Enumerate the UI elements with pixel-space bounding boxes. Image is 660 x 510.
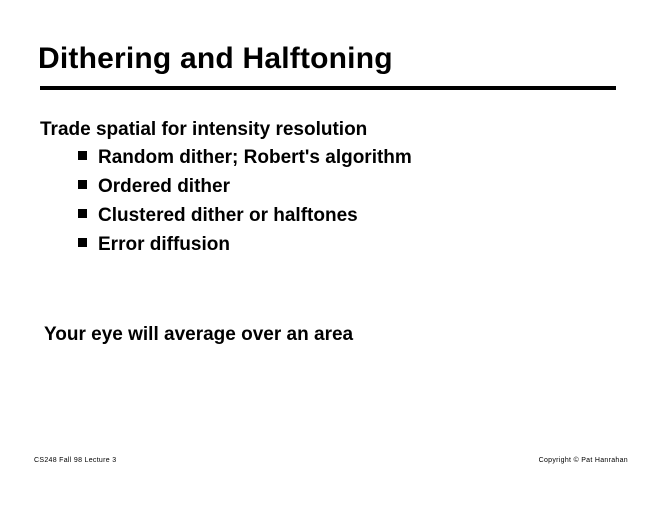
list-item: Ordered dither [78, 177, 620, 196]
square-bullet-icon [78, 180, 87, 189]
list-item-label: Error diffusion [98, 235, 230, 254]
square-bullet-icon [78, 209, 87, 218]
square-bullet-icon [78, 151, 87, 160]
footer-copyright: Copyright © Pat Hanrahan [539, 457, 628, 464]
slide-canvas: Dithering and Halftoning Trade spatial f… [0, 0, 660, 510]
list-item-label: Clustered dither or halftones [98, 206, 358, 225]
list-item: Clustered dither or halftones [78, 206, 620, 225]
slide-body: Trade spatial for intensity resolution R… [40, 118, 620, 264]
list-item-label: Random dither; Robert's algorithm [98, 148, 412, 167]
list-item: Random dither; Robert's algorithm [78, 148, 620, 167]
footer-course-label: CS248 Fall 98 Lecture 3 [34, 457, 116, 464]
list-item: Error diffusion [78, 235, 620, 254]
square-bullet-icon [78, 238, 87, 247]
page-title: Dithering and Halftoning [38, 42, 393, 75]
closing-line: Your eye will average over an area [44, 324, 353, 346]
bullet-list: Random dither; Robert's algorithm Ordere… [40, 148, 620, 254]
title-divider [40, 86, 616, 90]
list-item-label: Ordered dither [98, 177, 230, 196]
lead-line: Trade spatial for intensity resolution [40, 118, 620, 142]
